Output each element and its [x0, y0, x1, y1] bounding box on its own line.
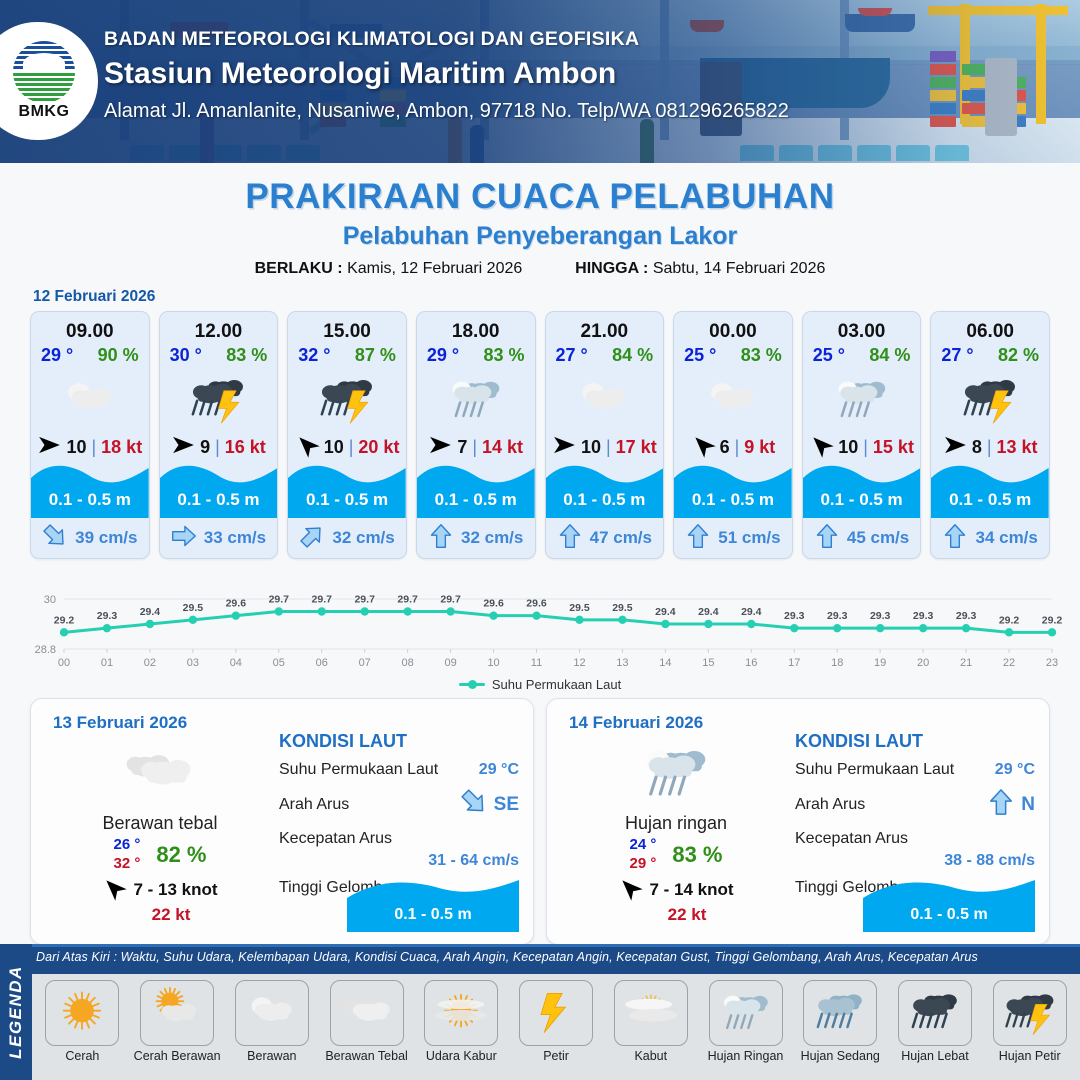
hour-card: 15.00 32 ° 87 % 10 | 20 kt 0.1 - 0.5 m: [287, 311, 407, 559]
svg-text:15: 15: [702, 657, 714, 669]
svg-text:29.6: 29.6: [226, 598, 247, 610]
svg-text:13: 13: [616, 657, 628, 669]
legend-item: Berawan Tebal: [322, 980, 411, 1064]
day-date: 13 Februari 2026: [53, 713, 187, 733]
station-address: Alamat Jl. Amanlanite, Nusaniwe, Ambon, …: [104, 100, 789, 123]
forecast-day-label: 12 Februari 2026: [33, 288, 1080, 306]
hour-humidity: 83 %: [741, 345, 782, 366]
wind-speed: 9: [200, 437, 210, 458]
sst-label: Suhu Permukaan Laut: [795, 761, 954, 779]
weather-cerah-berawan-icon: [140, 980, 214, 1046]
svg-text:30: 30: [44, 594, 56, 606]
legend-note: Dari Atas Kiri : Waktu, Suhu Udara, Kele…: [36, 950, 978, 964]
valid-until-label: HINGGA :: [575, 260, 648, 277]
svg-text:29.2: 29.2: [1042, 614, 1062, 626]
svg-text:22: 22: [1003, 657, 1015, 669]
wave-height-block: 0.1 - 0.5 m: [417, 460, 535, 518]
hourly-forecast-row: 09.00 29 ° 90 % 10 | 18 kt 0.1 - 0.5 m 3…: [0, 311, 1080, 559]
current-direction-icon: [299, 523, 325, 554]
wave-height-value: 0.1 - 0.5 m: [674, 490, 792, 510]
weather-petir-icon: [519, 980, 593, 1046]
current-direction-icon: [557, 523, 583, 554]
wind-separator: |: [987, 437, 992, 458]
current-direction-icon: [428, 523, 454, 554]
wind-speed: 10: [324, 437, 344, 458]
hour-time: 09.00: [31, 312, 149, 343]
svg-text:10: 10: [487, 657, 499, 669]
wave-height-value: 0.1 - 0.5 m: [417, 490, 535, 510]
day-panel: 13 Februari 2026 Berawan tebal 26 ° 32 °…: [30, 698, 534, 945]
current-direction-icon: [814, 523, 840, 554]
svg-text:09: 09: [444, 657, 456, 669]
wind-direction-icon: [618, 879, 642, 902]
current-speed: 39 cm/s: [75, 528, 137, 548]
wind-gust: 17 kt: [616, 437, 657, 458]
svg-text:04: 04: [230, 657, 242, 669]
sst-value: 29 °C: [995, 761, 1035, 779]
weather-hujan-lebat-icon: [898, 980, 972, 1046]
weather-hujan-petir-icon: [931, 369, 1049, 431]
legend-item: Cerah: [38, 980, 127, 1064]
current-direction-icon: [942, 523, 968, 554]
current-direction-value: N: [1021, 794, 1035, 816]
station-name: Stasiun Meteorologi Maritim Ambon: [104, 57, 789, 91]
svg-text:21: 21: [960, 657, 972, 669]
weather-hujan-ringan-icon: [417, 369, 535, 431]
legend-item: Hujan Ringan: [701, 980, 790, 1064]
current-direction-value: SE: [494, 794, 519, 816]
svg-text:29.7: 29.7: [312, 594, 333, 606]
legend-item: Kabut: [606, 980, 695, 1064]
legend-item-label: Udara Kabur: [426, 1050, 497, 1064]
svg-text:01: 01: [101, 657, 113, 669]
hour-temperature: 27 °: [941, 345, 973, 366]
wind-direction-icon: [691, 436, 715, 459]
svg-text:08: 08: [402, 657, 414, 669]
wind-speed: 10: [838, 437, 858, 458]
hour-temperature: 27 °: [556, 345, 588, 366]
day-condition: Berawan tebal: [45, 813, 275, 834]
wind-speed: 6: [720, 437, 730, 458]
svg-text:29.3: 29.3: [97, 610, 118, 622]
svg-text:29.3: 29.3: [956, 610, 977, 622]
current-speed: 34 cm/s: [975, 528, 1037, 548]
svg-text:07: 07: [359, 657, 371, 669]
day-humidity: 82 %: [156, 842, 206, 868]
chart-legend: Suhu Permukaan Laut: [0, 677, 1080, 692]
svg-text:29.5: 29.5: [569, 602, 590, 614]
svg-text:20: 20: [917, 657, 929, 669]
weather-hujan-petir-icon: [288, 369, 406, 431]
hour-humidity: 83 %: [226, 345, 267, 366]
wind-speed: 10: [581, 437, 601, 458]
hour-humidity: 83 %: [483, 345, 524, 366]
legend-item: Hujan Petir: [985, 980, 1074, 1064]
daily-forecast-row: 13 Februari 2026 Berawan tebal 26 ° 32 °…: [0, 692, 1080, 945]
svg-text:14: 14: [659, 657, 671, 669]
current-speed: 45 cm/s: [847, 528, 909, 548]
svg-text:29.2: 29.2: [54, 614, 75, 626]
sst-label: Suhu Permukaan Laut: [279, 761, 438, 779]
wind-separator: |: [606, 437, 611, 458]
legend-item-label: Hujan Ringan: [708, 1050, 784, 1064]
valid-from-value: Kamis, 12 Februari 2026: [347, 260, 522, 277]
hour-card: 12.00 30 ° 83 % 9 | 16 kt 0.1 - 0.5 m: [159, 311, 279, 559]
current-speed: 32 cm/s: [332, 528, 394, 548]
wind-gust: 9 kt: [744, 437, 775, 458]
hour-humidity: 82 %: [998, 345, 1039, 366]
wind-separator: |: [735, 437, 740, 458]
svg-text:03: 03: [187, 657, 199, 669]
sea-conditions-title: KONDISI LAUT: [795, 731, 1035, 752]
hour-humidity: 90 %: [98, 345, 139, 366]
bmkg-emblem-icon: [13, 41, 75, 103]
svg-text:29.7: 29.7: [354, 594, 375, 606]
hour-time: 00.00: [674, 312, 792, 343]
legend-item: Petir: [512, 980, 601, 1064]
wind-separator: |: [863, 437, 868, 458]
legend-item-label: Cerah Berawan: [134, 1050, 221, 1064]
wind-gust: 14 kt: [482, 437, 523, 458]
legend-item-label: Berawan Tebal: [325, 1050, 407, 1064]
current-direction-icon: [171, 523, 197, 554]
day-temp-min: 24 °: [629, 836, 656, 855]
svg-text:19: 19: [874, 657, 886, 669]
weather-berawan-icon: [546, 369, 664, 431]
weather-hujan-petir-icon: [160, 369, 278, 431]
day-humidity: 83 %: [672, 842, 722, 868]
weather-udara-kabur-icon: [424, 980, 498, 1046]
day-wave-block: 0.1 - 0.5 m: [347, 876, 519, 932]
day-wind-range: 7 - 13 knot: [133, 880, 217, 900]
svg-text:23: 23: [1046, 657, 1058, 669]
day-wind-gust: 22 kt: [561, 905, 791, 925]
hour-humidity: 87 %: [355, 345, 396, 366]
svg-text:29.7: 29.7: [440, 594, 461, 606]
hour-humidity: 84 %: [612, 345, 653, 366]
hour-card: 18.00 29 ° 83 % 7 | 14 kt 0.1 - 0.5 m: [416, 311, 536, 559]
wind-direction-icon: [171, 436, 195, 459]
weather-berawan-icon: [31, 369, 149, 431]
sst-chart: 3028.829.20029.30129.40229.50329.60429.7…: [18, 571, 1062, 675]
legend-side-title: LEGENDA: [0, 944, 32, 1080]
page-title: PRAKIRAAN CUACA PELABUHAN: [0, 177, 1080, 217]
svg-text:29.3: 29.3: [870, 610, 891, 622]
current-direction-icon: [42, 523, 68, 554]
svg-text:02: 02: [144, 657, 156, 669]
svg-text:05: 05: [273, 657, 285, 669]
hour-time: 15.00: [288, 312, 406, 343]
day-temp-max: 29 °: [629, 855, 656, 874]
legend-item-label: Hujan Lebat: [901, 1050, 968, 1064]
sea-conditions-title: KONDISI LAUT: [279, 731, 519, 752]
hour-card: 00.00 25 ° 83 % 6 | 9 kt 0.1 - 0.5 m 51 …: [673, 311, 793, 559]
legend-item: Udara Kabur: [417, 980, 506, 1064]
day-wave-value: 0.1 - 0.5 m: [863, 906, 1035, 924]
wind-direction-icon: [37, 436, 61, 459]
current-direction-icon: [460, 788, 488, 821]
legend-item-label: Petir: [543, 1050, 569, 1064]
weather-hujan-sedang-icon: [803, 980, 877, 1046]
hour-humidity: 84 %: [869, 345, 910, 366]
svg-text:06: 06: [316, 657, 328, 669]
wind-separator: |: [215, 437, 220, 458]
day-wave-block: 0.1 - 0.5 m: [863, 876, 1035, 932]
svg-text:16: 16: [745, 657, 757, 669]
current-speed: 51 cm/s: [718, 528, 780, 548]
wave-height-value: 0.1 - 0.5 m: [160, 490, 278, 510]
svg-text:29.4: 29.4: [140, 606, 161, 618]
svg-text:28.8: 28.8: [35, 644, 56, 656]
legend-item-label: Hujan Sedang: [801, 1050, 880, 1064]
day-wave-value: 0.1 - 0.5 m: [347, 906, 519, 924]
wind-speed: 7: [457, 437, 467, 458]
day-temp-max: 32 °: [113, 855, 140, 874]
wave-height-value: 0.1 - 0.5 m: [931, 490, 1049, 510]
wave-height-block: 0.1 - 0.5 m: [803, 460, 921, 518]
weather-hujan-petir-icon: [993, 980, 1067, 1046]
valid-until-value: Sabtu, 14 Februari 2026: [653, 260, 826, 277]
current-speed: 47 cm/s: [590, 528, 652, 548]
svg-text:29.7: 29.7: [269, 594, 290, 606]
wind-direction-icon: [552, 436, 576, 459]
hour-card: 03.00 25 ° 84 % 10 | 15 kt 0.1 - 0.5 m: [802, 311, 922, 559]
current-speed-label: Kecepatan Arus: [795, 830, 908, 848]
legend-icon-list: Cerah Cerah Berawan Berawan Berawan Teba…: [32, 974, 1080, 1080]
current-direction-icon: [987, 788, 1015, 821]
hour-card: 21.00 27 ° 84 % 10 | 17 kt 0.1 - 0.5 m 4…: [545, 311, 665, 559]
svg-text:29.6: 29.6: [483, 598, 504, 610]
day-condition: Hujan ringan: [561, 813, 791, 834]
hour-temperature: 29 °: [427, 345, 459, 366]
weather-kabut-icon: [614, 980, 688, 1046]
current-speed-value: 38 - 88 cm/s: [795, 852, 1035, 870]
legend-item-label: Hujan Petir: [999, 1050, 1061, 1064]
svg-text:29.4: 29.4: [655, 606, 676, 618]
weather-berawan-icon: [235, 980, 309, 1046]
wave-height-value: 0.1 - 0.5 m: [803, 490, 921, 510]
agency-name: BADAN METEOROLOGI KLIMATOLOGI DAN GEOFIS…: [104, 28, 789, 51]
current-speed: 32 cm/s: [461, 528, 523, 548]
current-direction-label: Arah Arus: [279, 796, 349, 814]
hour-temperature: 30 °: [170, 345, 202, 366]
svg-text:29.7: 29.7: [397, 594, 418, 606]
hour-time: 03.00: [803, 312, 921, 343]
hour-time: 12.00: [160, 312, 278, 343]
svg-text:11: 11: [531, 657, 542, 669]
legend-label: Suhu Permukaan Laut: [492, 677, 621, 692]
wind-direction-icon: [102, 879, 126, 902]
wind-gust: 16 kt: [225, 437, 266, 458]
wave-height-block: 0.1 - 0.5 m: [546, 460, 664, 518]
svg-text:29.4: 29.4: [741, 606, 762, 618]
legend-item-label: Kabut: [634, 1050, 667, 1064]
hour-time: 18.00: [417, 312, 535, 343]
validity-row: BERLAKU : Kamis, 12 Februari 2026 HINGGA…: [0, 260, 1080, 278]
svg-text:29.3: 29.3: [784, 610, 805, 622]
wind-gust: 15 kt: [873, 437, 914, 458]
current-direction-icon: [685, 523, 711, 554]
hour-temperature: 29 °: [41, 345, 73, 366]
weather-berawan-tebal-icon: [45, 739, 275, 809]
wind-speed: 8: [972, 437, 982, 458]
legend-item: Hujan Sedang: [796, 980, 885, 1064]
legend-side-label: LEGENDA: [6, 965, 26, 1059]
legend-marker-icon: [459, 683, 485, 686]
svg-text:29.3: 29.3: [827, 610, 848, 622]
page-subtitle: Pelabuhan Penyeberangan Lakor: [0, 222, 1080, 251]
wind-direction-icon: [428, 436, 452, 459]
legend-item: Cerah Berawan: [133, 980, 222, 1064]
weather-berawan-icon: [674, 369, 792, 431]
current-direction-label: Arah Arus: [795, 796, 865, 814]
hour-temperature: 25 °: [813, 345, 845, 366]
wind-speed: 10: [66, 437, 86, 458]
current-speed: 33 cm/s: [204, 528, 266, 548]
wave-height-block: 0.1 - 0.5 m: [160, 460, 278, 518]
svg-text:18: 18: [831, 657, 843, 669]
svg-text:29.3: 29.3: [913, 610, 934, 622]
svg-text:29.6: 29.6: [526, 598, 547, 610]
bmkg-logo-text: BMKG: [19, 103, 70, 121]
legend-item: Berawan: [227, 980, 316, 1064]
wind-separator: |: [472, 437, 477, 458]
wave-height-value: 0.1 - 0.5 m: [546, 490, 664, 510]
svg-text:12: 12: [573, 657, 585, 669]
hour-card: 09.00 29 ° 90 % 10 | 18 kt 0.1 - 0.5 m 3…: [30, 311, 150, 559]
valid-from-label: BERLAKU :: [255, 260, 343, 277]
legend-footer: Dari Atas Kiri : Waktu, Suhu Udara, Kele…: [0, 944, 1080, 1080]
svg-text:29.4: 29.4: [698, 606, 719, 618]
hour-time: 06.00: [931, 312, 1049, 343]
hour-temperature: 25 °: [684, 345, 716, 366]
svg-text:29.2: 29.2: [999, 614, 1020, 626]
page-header: BMKG BADAN METEOROLOGI KLIMATOLOGI DAN G…: [0, 0, 1080, 163]
legend-item-label: Berawan: [247, 1050, 296, 1064]
wave-height-block: 0.1 - 0.5 m: [288, 460, 406, 518]
day-date: 14 Februari 2026: [569, 713, 703, 733]
header-text-block: BADAN METEOROLOGI KLIMATOLOGI DAN GEOFIS…: [104, 28, 789, 123]
svg-text:00: 00: [58, 657, 70, 669]
weather-hujan-ringan-icon: [709, 980, 783, 1046]
weather-hujan-ringan-icon: [803, 369, 921, 431]
wind-separator: |: [349, 437, 354, 458]
wind-direction-icon: [295, 436, 319, 459]
svg-text:17: 17: [788, 657, 800, 669]
wave-height-value: 0.1 - 0.5 m: [31, 490, 149, 510]
title-block: PRAKIRAAN CUACA PELABUHAN Pelabuhan Peny…: [0, 163, 1080, 278]
legend-item: Hujan Lebat: [891, 980, 980, 1064]
wind-gust: 13 kt: [997, 437, 1038, 458]
current-speed-label: Kecepatan Arus: [279, 830, 392, 848]
wave-height-block: 0.1 - 0.5 m: [31, 460, 149, 518]
hour-time: 21.00: [546, 312, 664, 343]
wind-separator: |: [91, 437, 96, 458]
svg-text:29.5: 29.5: [612, 602, 633, 614]
day-temp-min: 26 °: [113, 836, 140, 855]
wave-height-value: 0.1 - 0.5 m: [288, 490, 406, 510]
legend-item-label: Cerah: [65, 1050, 99, 1064]
wave-height-block: 0.1 - 0.5 m: [931, 460, 1049, 518]
wave-height-block: 0.1 - 0.5 m: [674, 460, 792, 518]
wind-direction-icon: [943, 436, 967, 459]
hour-card: 06.00 27 ° 82 % 8 | 13 kt 0.1 - 0.5 m: [930, 311, 1050, 559]
wind-gust: 20 kt: [358, 437, 399, 458]
weather-berawan-tebal-icon: [330, 980, 404, 1046]
wind-gust: 18 kt: [101, 437, 142, 458]
day-wind-gust: 22 kt: [45, 905, 275, 925]
day-panel: 14 Februari 2026 Hujan ringan 24 ° 29 ° …: [546, 698, 1050, 945]
svg-text:29.5: 29.5: [183, 602, 204, 614]
current-speed-value: 31 - 64 cm/s: [279, 852, 519, 870]
hour-temperature: 32 °: [298, 345, 330, 366]
sst-value: 29 °C: [479, 761, 519, 779]
weather-cerah-icon: [45, 980, 119, 1046]
day-wind-range: 7 - 14 knot: [649, 880, 733, 900]
wind-direction-icon: [809, 436, 833, 459]
weather-hujan-ringan-icon: [561, 739, 791, 809]
